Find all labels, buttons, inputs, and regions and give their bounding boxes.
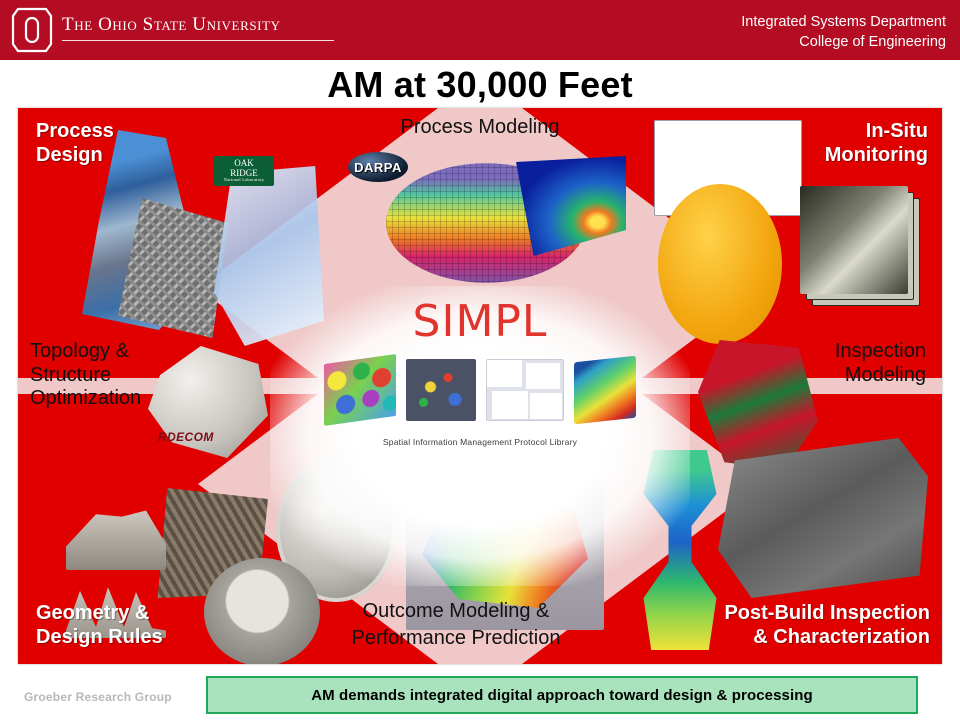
osu-block-o-icon bbox=[10, 6, 54, 54]
melt-pool-fea-image bbox=[516, 156, 626, 256]
simpl-center-block: SIMPL Spatial Information Management Pro… bbox=[310, 296, 650, 546]
label-topology-structure-optimization: Topology & Structure Optimization bbox=[30, 340, 141, 411]
department-line-2: College of Engineering bbox=[741, 32, 946, 52]
label-post-build-inspection: Post-Build Inspection & Characterization bbox=[724, 602, 930, 649]
research-group-credit: Groeber Research Group bbox=[24, 690, 172, 704]
oak-ridge-subtitle: National Laboratory bbox=[224, 178, 264, 183]
ct-scan-internal-structure-image bbox=[718, 438, 928, 598]
department-block: Integrated Systems Department College of… bbox=[741, 12, 946, 52]
label-in-situ-monitoring: In-Situ Monitoring bbox=[825, 120, 928, 167]
dark-particle-cloud-tile bbox=[406, 359, 476, 421]
wordmark-underline bbox=[62, 40, 334, 41]
oak-ridge-national-laboratory-logo: OAK RIDGE National Laboratory bbox=[214, 156, 274, 186]
simpl-wordmark: SIMPL bbox=[310, 296, 650, 347]
simpl-tile-row bbox=[310, 353, 650, 427]
takeaway-banner: AM demands integrated digital approach t… bbox=[206, 676, 918, 714]
am-overview-diagram: OAK RIDGE National Laboratory DARPA RDEC… bbox=[18, 108, 942, 664]
statistics-plots-tile bbox=[486, 359, 564, 421]
us-army-rdecom-logo: RDECOM bbox=[158, 420, 238, 444]
stress-field-cube-tile bbox=[574, 356, 636, 425]
slide-title: AM at 30,000 Feet bbox=[0, 64, 960, 106]
layer-scan-stack-image bbox=[800, 186, 908, 294]
label-process-modeling: Process Modeling bbox=[18, 116, 942, 140]
label-geometry-design-rules: Geometry & Design Rules bbox=[36, 602, 163, 649]
osu-wordmark: The Ohio State University bbox=[62, 14, 281, 36]
takeaway-banner-text: AM demands integrated digital approach t… bbox=[311, 687, 813, 704]
darpa-logo: DARPA bbox=[348, 152, 408, 182]
label-inspection-modeling: Inspection Modeling bbox=[835, 340, 926, 387]
label-outcome-modeling: Outcome Modeling & Performance Predictio… bbox=[266, 598, 646, 652]
department-line-1: Integrated Systems Department bbox=[741, 12, 946, 32]
microstructure-voxel-tile bbox=[324, 354, 396, 426]
simpl-subtitle: Spatial Information Management Protocol … bbox=[310, 437, 650, 447]
page-header: The Ohio State University Integrated Sys… bbox=[0, 0, 960, 60]
